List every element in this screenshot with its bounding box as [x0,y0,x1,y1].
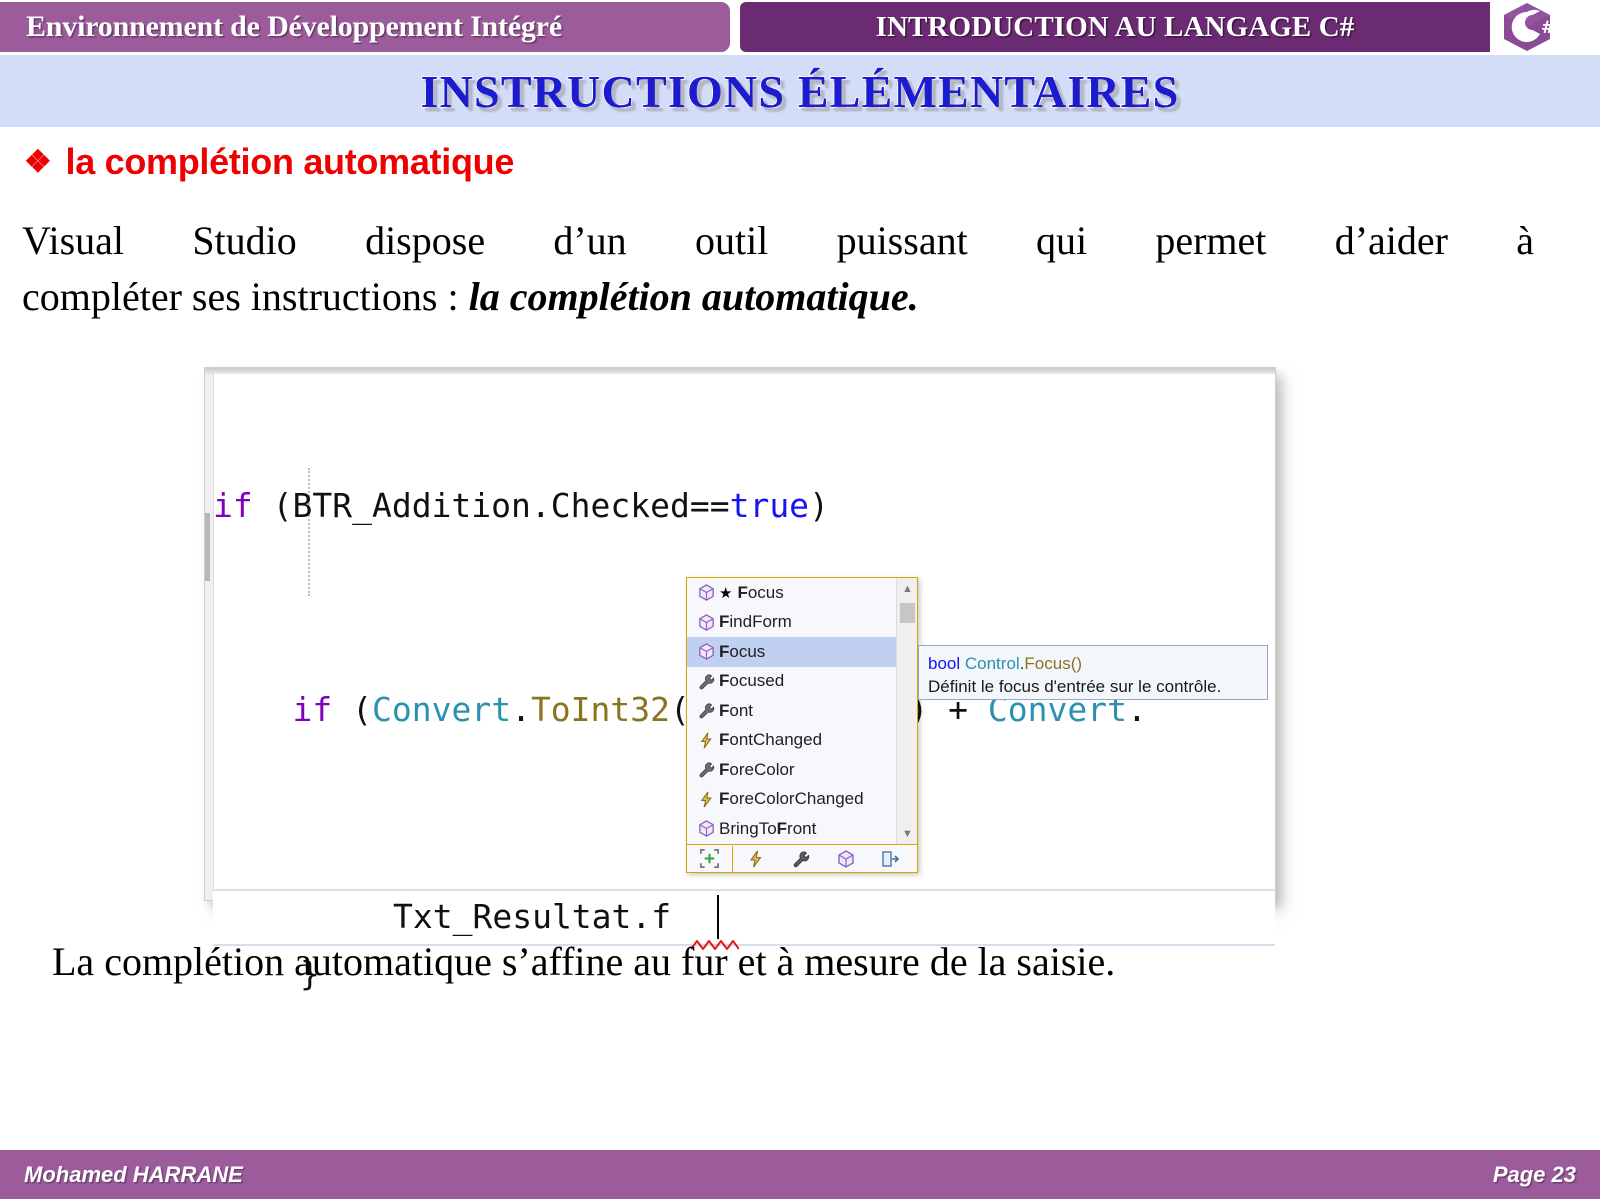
slide-title-band: INSTRUCTIONS ÉLÉMENTAIRES [0,55,1600,127]
header-banner: Environnement de Développement Intégré I… [0,0,1600,53]
method-cube-icon [694,642,719,661]
list-item[interactable]: Focused [687,667,897,697]
header-right-banner-label: INTRODUCTION AU LANGAGE C# [876,11,1355,44]
all-members-icon[interactable] [687,845,732,872]
slide-caption: La complétion automatique s’affine au fu… [52,938,1115,985]
list-item[interactable]: BringToFront [687,814,897,844]
property-wrench-icon [694,701,719,720]
method-cube-icon [694,613,719,632]
body-paragraph: Visual Studio dispose d’un outil puissan… [22,213,1534,325]
list-item[interactable]: ForeColorChanged [687,785,897,815]
intellisense-filter-toolbar[interactable] [687,844,917,872]
paragraph-line-2-prefix: compléter ses instructions : [22,274,469,319]
slide-footer: Mohamed HARRANE Page 23 [0,1150,1600,1199]
property-wrench-icon [694,672,719,691]
intellisense-scrollbar[interactable]: ▲ ▼ [896,578,917,845]
list-item[interactable]: FindForm [687,608,897,638]
editor-top-edge [205,368,1275,374]
event-bolt-icon[interactable] [733,845,778,872]
code-keyword-if: if [213,486,253,525]
list-item[interactable]: FontChanged [687,726,897,756]
intellisense-list[interactable]: ★ Focus FindForm Focus Focused [687,578,897,845]
code-line-2-dot1: . [511,690,531,729]
svg-text:#: # [1541,18,1555,38]
editor-change-marker [205,513,210,581]
diamond-bullet-icon: ❖ [24,146,52,177]
list-item-selected[interactable]: Focus [687,637,897,667]
code-method-toint32: ToInt32 [531,690,670,729]
list-item-label: ForeColorChanged [719,789,864,809]
scroll-up-arrow-icon[interactable]: ▲ [897,579,918,599]
event-bolt-icon [694,790,719,809]
footer-author: Mohamed HARRANE [24,1162,243,1188]
starred-icon: ★ [719,584,732,602]
list-item-label: BringToFront [719,819,816,839]
footer-page-number: Page 23 [1493,1162,1576,1188]
tooltip-signature: bool Control.Focus() [928,652,1259,675]
list-item[interactable]: ★ Focus [687,578,897,608]
paragraph-line-2: compléter ses instructions : la compléti… [22,269,1534,325]
csharp-logo-icon: # [1496,1,1558,53]
tooltip-return-type: bool [928,654,960,673]
header-left-banner-label: Environnement de Développement Intégré [26,10,562,44]
property-wrench-icon [694,760,719,779]
list-item[interactable]: ForeColor [687,755,897,785]
header-left-banner: Environnement de Développement Intégré [0,2,730,52]
code-current-line-text: Txt_Resultat.f [393,897,671,936]
list-item-label: FontChanged [719,730,822,750]
list-item-label: Focus [737,583,783,603]
extension-methods-icon[interactable] [868,845,913,872]
tooltip-member: Focus() [1024,654,1082,673]
property-wrench-icon[interactable] [778,845,823,872]
event-bolt-icon [694,731,719,750]
paragraph-line-2-emphasis: la complétion automatique. [469,274,919,319]
code-type-convert: Convert [372,690,511,729]
list-item[interactable]: Font [687,696,897,726]
tooltip-description: Définit le focus d'entrée sur le contrôl… [928,675,1259,698]
list-item-label: FindForm [719,612,792,632]
scrollbar-thumb[interactable] [900,603,915,623]
code-line-2-indent [213,690,292,729]
intellisense-popup[interactable]: ★ Focus FindForm Focus Focused [686,577,918,873]
code-line-1: if (BTR_Addition.Checked==true) [213,480,1273,531]
method-cube-icon[interactable] [823,845,868,872]
section-subheading: ❖ la complétion automatique [24,141,514,183]
list-item-label: Focused [719,671,784,691]
paragraph-line-1: Visual Studio dispose d’un outil puissan… [22,213,1534,269]
list-item-label: ForeColor [719,760,795,780]
code-editor-screenshot: if (BTR_Addition.Checked==true) if (Conv… [205,368,1275,900]
code-line-1-end: ) [809,486,829,525]
code-keyword-if-2: if [292,690,332,729]
list-item-label: Font [719,701,753,721]
page-title: INSTRUCTIONS ÉLÉMENTAIRES [421,65,1180,118]
code-literal-true: true [730,486,809,525]
scroll-down-arrow-icon[interactable]: ▼ [897,824,918,844]
quickinfo-tooltip: bool Control.Focus() Définit le focus d'… [918,645,1268,700]
code-line-1-mid: (BTR_Addition.Checked== [253,486,730,525]
method-cube-icon [694,583,719,602]
paragraph-line-1-text: Visual Studio dispose d’un outil puissan… [22,213,1534,269]
text-caret [717,895,719,939]
section-subheading-label: la complétion automatique [66,141,515,183]
tooltip-owner-type: Control [965,654,1020,673]
method-cube-icon [694,819,719,838]
list-item-label: Focus [719,642,765,662]
code-line-2-paren: ( [332,690,372,729]
header-right-banner: INTRODUCTION AU LANGAGE C# [740,2,1490,52]
